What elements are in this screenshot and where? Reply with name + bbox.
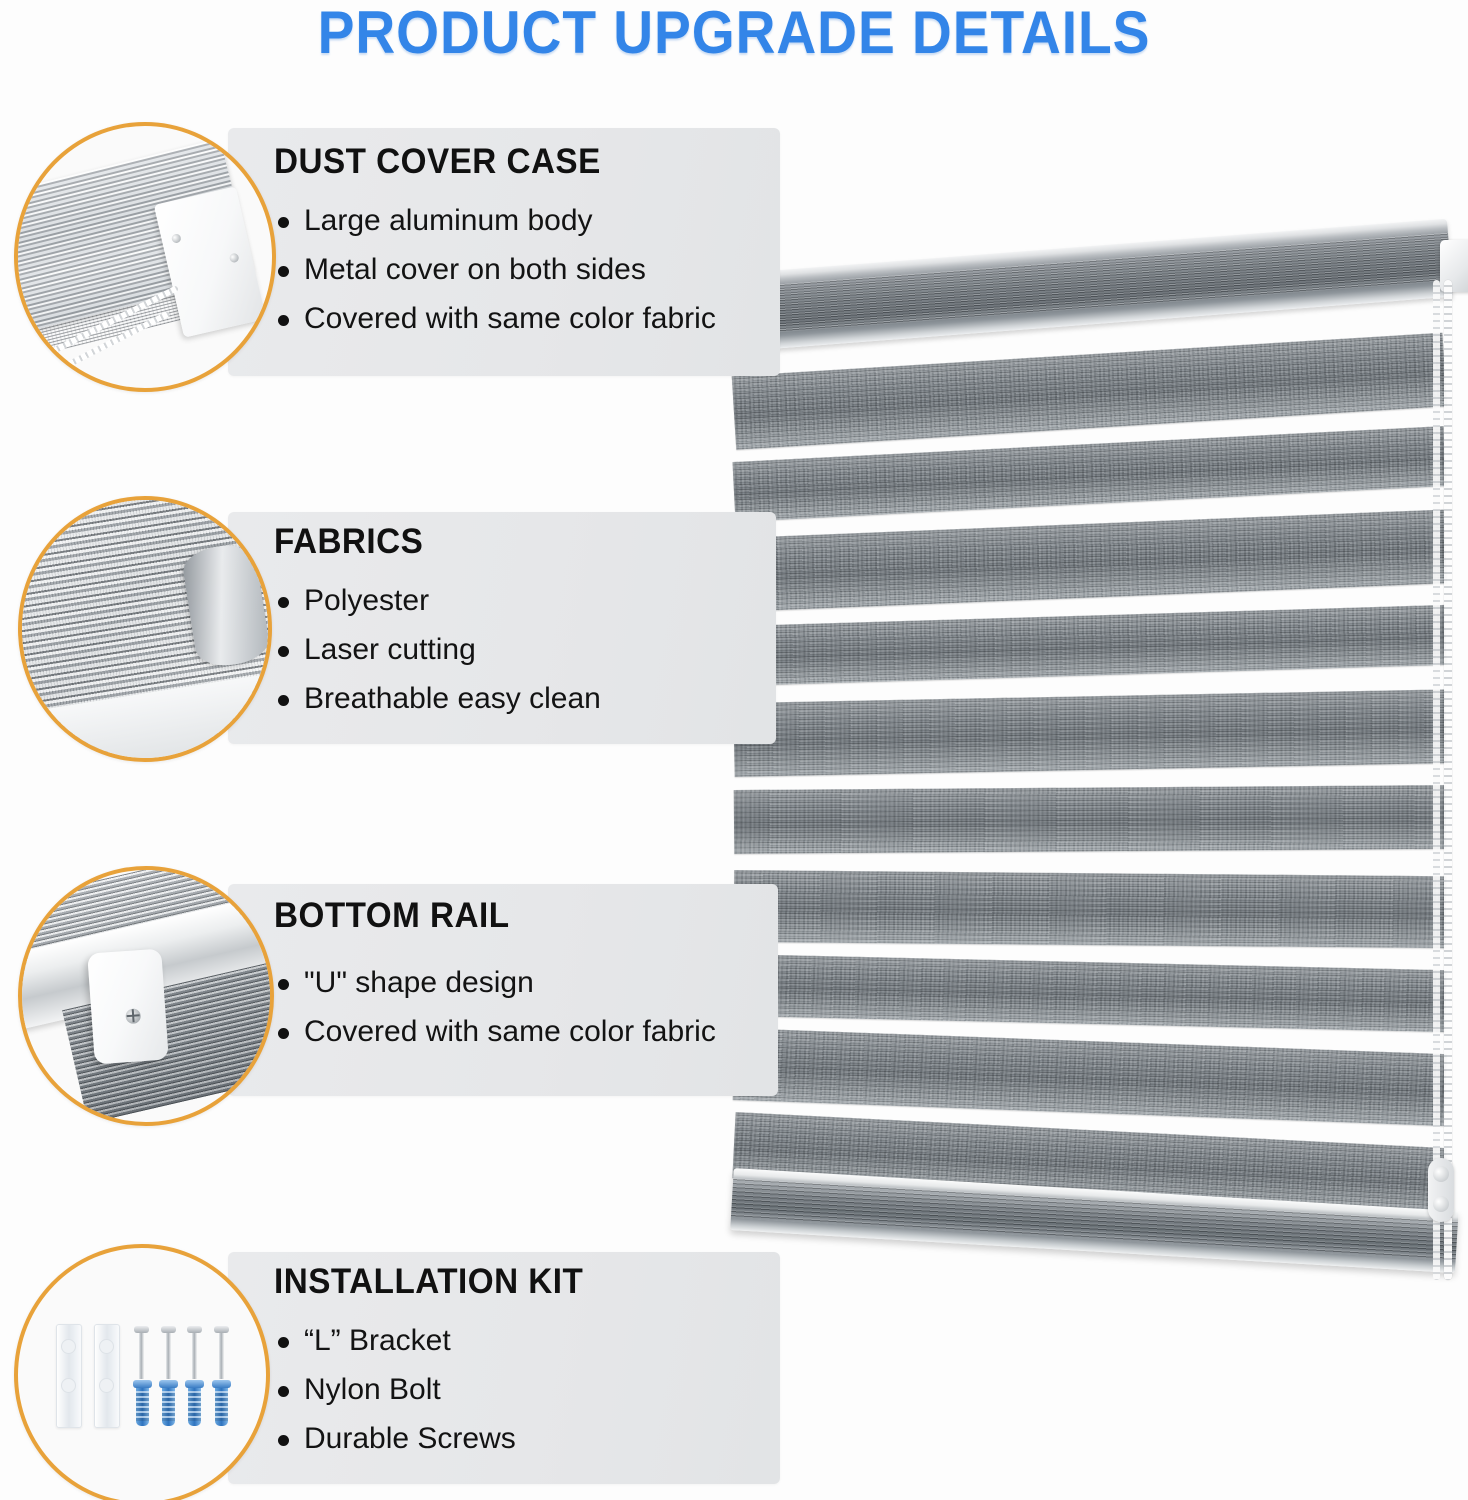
section-heading: INSTALLATION KIT	[274, 1262, 583, 1302]
l-bracket	[94, 1324, 120, 1428]
screw	[166, 1330, 171, 1379]
bead-chain[interactable]	[1444, 280, 1452, 1280]
blind-slat	[733, 1028, 1447, 1126]
l-bracket	[56, 1324, 82, 1428]
section-heading: DUST COVER CASE	[274, 142, 694, 182]
list-item: Durable Screws	[274, 1414, 600, 1463]
screw	[219, 1330, 224, 1379]
installation-kit-photo	[14, 1244, 270, 1500]
nylon-bolt-anchor	[162, 1385, 175, 1426]
page-title: PRODUCT UPGRADE DETAILS	[59, 0, 1410, 66]
zebra-roller-blind	[716, 228, 1468, 1258]
blind-slat	[733, 605, 1446, 686]
list-item: Breathable easy clean	[274, 674, 601, 723]
nylon-bolt-anchor	[215, 1385, 228, 1426]
blind-slat	[733, 954, 1446, 1032]
blind-slat	[734, 785, 1446, 854]
list-item: Nylon Bolt	[274, 1365, 600, 1414]
list-item: “L” Bracket	[274, 1316, 600, 1365]
blind-slat	[733, 509, 1447, 612]
blind-slat	[733, 689, 1446, 777]
feature-list: "U" shape design Covered with same color…	[274, 958, 716, 1056]
list-item: Covered with same color fabric	[274, 1007, 716, 1056]
fabrics-photo	[18, 496, 272, 762]
bead-chain-secondary[interactable]	[1433, 280, 1440, 1280]
feature-list: Polyester Laser cutting Breathable easy …	[274, 576, 601, 723]
list-item: "U" shape design	[274, 958, 716, 1007]
infographic-canvas: PRODUCT UPGRADE DETAILS	[0, 0, 1468, 1500]
list-item: Metal cover on both sides	[274, 245, 716, 294]
dust-cover-case-photo	[14, 122, 276, 392]
nylon-bolt-anchor	[188, 1385, 201, 1426]
screw	[192, 1330, 197, 1379]
section-heading: FABRICS	[274, 522, 585, 562]
list-item: Covered with same color fabric	[274, 294, 716, 343]
blind-slat	[734, 870, 1447, 948]
list-item: Large aluminum body	[274, 196, 716, 245]
section-heading: BOTTOM RAIL	[274, 896, 694, 936]
list-item: Polyester	[274, 576, 601, 625]
bottom-rail-photo	[18, 866, 274, 1126]
feature-list: Large aluminum body Metal cover on both …	[274, 196, 716, 343]
blind-slats	[716, 228, 1468, 1258]
dust-cover-head-rail	[727, 219, 1453, 352]
chain-tensioner	[1428, 1158, 1454, 1222]
nylon-bolt-anchor	[136, 1385, 149, 1426]
screw	[139, 1330, 144, 1379]
feature-list: “L” Bracket Nylon Bolt Durable Screws	[274, 1316, 600, 1463]
list-item: Laser cutting	[274, 625, 601, 674]
